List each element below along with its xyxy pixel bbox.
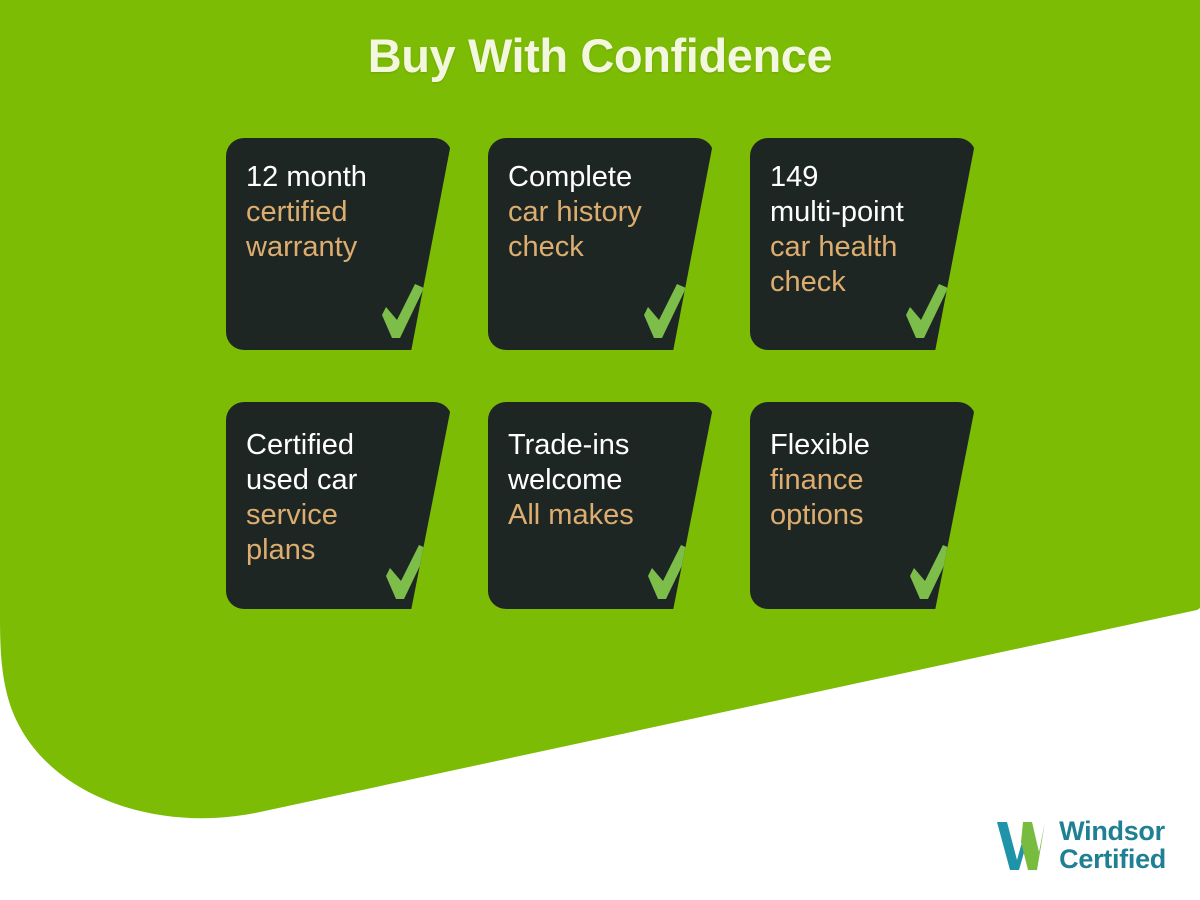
feature-card-line: check <box>508 230 696 265</box>
feature-card-line: Certified <box>246 428 434 463</box>
checkmark-icon <box>646 543 692 603</box>
feature-card-text: 149multi-pointcar healthcheck <box>770 160 958 300</box>
feature-card-line: certified <box>246 195 434 230</box>
card-row-top: 12 monthcertifiedwarrantyCompletecar his… <box>226 138 986 350</box>
checkmark-icon <box>908 543 954 603</box>
brand-logo-line-2: Certified <box>1059 845 1166 873</box>
checkmark-icon <box>380 282 426 342</box>
feature-card-body: Trade-inswelcomeAll makes <box>488 402 714 609</box>
feature-card-body: Completecar historycheck <box>488 138 714 350</box>
feature-card-finance-options[interactable]: Flexiblefinanceoptions <box>750 402 976 609</box>
feature-card-car-health-check[interactable]: 149multi-pointcar healthcheck <box>750 138 976 350</box>
feature-card-line: options <box>770 498 958 533</box>
feature-card-text: Flexiblefinanceoptions <box>770 424 958 533</box>
feature-card-certified-warranty[interactable]: 12 monthcertifiedwarranty <box>226 138 452 350</box>
feature-card-grid: 12 monthcertifiedwarrantyCompletecar his… <box>226 138 986 661</box>
feature-card-text: Trade-inswelcomeAll makes <box>508 424 696 533</box>
feature-card-body: 149multi-pointcar healthcheck <box>750 138 976 350</box>
windsor-w-icon <box>993 816 1049 874</box>
feature-card-line: used car <box>246 463 434 498</box>
page-title: Buy With Confidence <box>0 28 1200 83</box>
checkmark-icon <box>384 543 430 603</box>
brand-logo-wordmark: Windsor Certified <box>1059 817 1166 873</box>
feature-card-line: welcome <box>508 463 696 498</box>
feature-card-body: Flexiblefinanceoptions <box>750 402 976 609</box>
brand-logo-line-1: Windsor <box>1059 817 1166 845</box>
feature-card-line: 149 <box>770 160 958 195</box>
feature-card-body: Certifiedused carserviceplans <box>226 402 452 609</box>
feature-card-line: service <box>246 498 434 533</box>
feature-card-line: warranty <box>246 230 434 265</box>
feature-card-car-history-check[interactable]: Completecar historycheck <box>488 138 714 350</box>
feature-card-line: multi-point <box>770 195 958 230</box>
infographic-canvas: Buy With Confidence 12 monthcertifiedwar… <box>0 0 1200 900</box>
feature-card-line: Flexible <box>770 428 958 463</box>
feature-card-text: 12 monthcertifiedwarranty <box>246 160 434 265</box>
card-row-bottom: Certifiedused carserviceplansTrade-inswe… <box>226 402 986 609</box>
feature-card-line: Complete <box>508 160 696 195</box>
feature-card-body: 12 monthcertifiedwarranty <box>226 138 452 350</box>
feature-card-line: Trade-ins <box>508 428 696 463</box>
feature-card-text: Completecar historycheck <box>508 160 696 265</box>
feature-card-trade-ins[interactable]: Trade-inswelcomeAll makes <box>488 402 714 609</box>
brand-logo[interactable]: Windsor Certified <box>993 816 1166 874</box>
checkmark-icon <box>642 282 688 342</box>
checkmark-icon <box>904 282 950 342</box>
feature-card-line: car history <box>508 195 696 230</box>
feature-card-line: finance <box>770 463 958 498</box>
feature-card-line: All makes <box>508 498 696 533</box>
feature-card-service-plans[interactable]: Certifiedused carserviceplans <box>226 402 452 609</box>
feature-card-line: car health <box>770 230 958 265</box>
feature-card-line: 12 month <box>246 160 434 195</box>
